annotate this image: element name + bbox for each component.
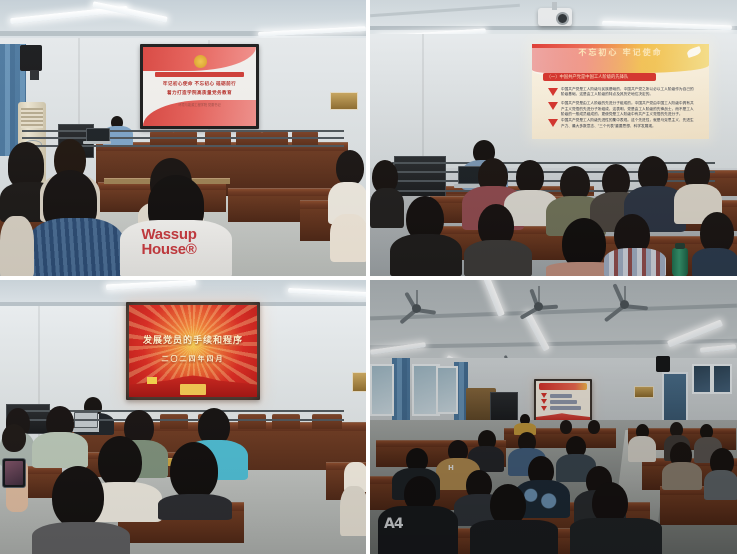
bullet-text: 中国共产党是由工人阶级的先进分子组成的。中国共产党由中国工人阶级中具有共产主义觉… [561, 101, 697, 116]
slide-title: 发展党员的手续和程序 [129, 333, 257, 346]
audience-body [340, 486, 366, 536]
slide-bullet: 中国共产党是工人阶级与民族基础的，中国共产党之所以必以工人阶级作为自己的阶级基础… [548, 87, 697, 99]
jacket-graphic: A4 [384, 516, 403, 532]
classroom-door[interactable] [662, 372, 688, 424]
projector-lens [556, 12, 569, 25]
photo-top-left[interactable]: 牢记初心使命 不忘初心 砥砺前行 着力打造学院高质量党务教育 环境与能源工程学院… [0, 0, 366, 276]
audience-head [98, 436, 142, 488]
projector-mount [552, 2, 557, 10]
bullet-marker-icon [541, 406, 547, 411]
phone-screen [5, 461, 23, 485]
audience-head [330, 214, 366, 262]
audience-head [560, 420, 572, 434]
bottle-cap [675, 243, 685, 249]
rack-slot [22, 130, 344, 132]
slide-title-line-2: 着力打造学院高质量党务教育 [143, 90, 256, 96]
audience-body-striped [28, 218, 124, 276]
presenter-laptop [86, 128, 108, 144]
jacket-graphic: H [448, 464, 454, 472]
chair-back [238, 414, 266, 429]
audience-jacket [570, 518, 662, 554]
audience-jacket [470, 520, 558, 554]
bullet-marker-icon [548, 88, 558, 96]
rack-slot [392, 162, 715, 164]
slide-bottom-right [536, 381, 590, 421]
wall-plaque [352, 372, 366, 392]
audience-head [2, 424, 26, 452]
ceiling-fan [516, 298, 560, 314]
bullet-text: 中国共产党是工人阶级与民族基础的，中国共产党之所以必以工人阶级作为自己的阶级基础… [561, 87, 697, 98]
smartphone[interactable] [2, 458, 26, 488]
bullet-marker-icon [541, 393, 547, 398]
classroom-window [692, 364, 712, 394]
projection-screen [536, 381, 590, 421]
audience-body [464, 240, 532, 276]
audience-body [0, 216, 34, 276]
slide-title-line-1: 牢记初心使命 不忘初心 砥砺前行 [143, 81, 256, 87]
presenter-laptop [74, 412, 96, 432]
slide-top-right: 不忘初心 牢记使命 （一）中国共产党是中国工人阶级的先锋队 中国共产党是工人阶级… [532, 44, 709, 139]
chair-back [312, 414, 342, 429]
slide-date: 二〇二四年四月 [129, 354, 257, 364]
bullet-marker-icon [548, 119, 558, 127]
shirt-graphic-text: Wassup House® [126, 227, 212, 258]
slide-header-strip [155, 72, 243, 77]
party-emblem [194, 55, 207, 68]
speaker-bracket [30, 70, 39, 80]
audience-head [336, 150, 364, 186]
water-bottle [672, 248, 688, 276]
bullet-text-placeholder [550, 394, 572, 398]
slide-bullet [541, 393, 572, 398]
audience-backpack [604, 248, 666, 276]
photo-bottom-right[interactable]: H A4 [370, 280, 737, 554]
classroom-window [436, 366, 458, 414]
audience-body [390, 234, 462, 276]
wall-seam [422, 34, 424, 164]
bullet-text: 中国共产党是工人阶级先进性的集中表现。这个先进性，就是马克思主义、先进生产力、最… [561, 118, 697, 129]
photo-collage: 牢记初心使命 不忘初心 砥砺前行 着力打造学院高质量党务教育 环境与能源工程学院… [0, 0, 737, 554]
projection-screen: 不忘初心 牢记使命 （一）中国共产党是中国工人阶级的先锋队 中国共产党是工人阶级… [532, 44, 709, 139]
classroom-window [712, 364, 732, 394]
chair-back [272, 414, 300, 429]
bullet-marker-icon [541, 399, 547, 404]
classroom-window [370, 364, 394, 416]
audience-body [628, 436, 656, 462]
slide-footer: 环境与能源工程学院 党委书记 [143, 102, 256, 107]
audience-body [704, 470, 737, 500]
slide-bullet [541, 399, 577, 404]
audience-head [52, 466, 104, 528]
flag-icon [147, 377, 157, 384]
slide-bullet [541, 406, 581, 411]
ac-vent [21, 108, 43, 128]
projection-screen: 牢记初心使命 不忘初心 砥砺前行 着力打造学院高质量党务教育 环境与能源工程学院… [143, 47, 256, 126]
fan-hub [620, 300, 629, 309]
photo-top-right[interactable]: 不忘初心 牢记使命 （一）中国共产党是中国工人阶级的先锋队 中国共产党是工人阶级… [370, 0, 737, 276]
photo-bottom-left[interactable]: 发展党员的手续和程序 二〇二四年四月 [0, 280, 366, 554]
audience-head-ponytail [170, 442, 218, 500]
ceiling-fan [394, 300, 438, 316]
audience-body [32, 432, 88, 468]
audience-head [588, 420, 600, 434]
slide-title-bar [539, 383, 587, 389]
audience-body [692, 248, 737, 276]
bullet-text-placeholder [550, 406, 581, 410]
ceiling-fan [598, 296, 650, 312]
audience-body [370, 188, 404, 228]
laptop-lid [86, 128, 110, 142]
slide-bullet: 中国共产党是由工人阶级的先进分子组成的。中国共产党由中国工人阶级中具有共产主义觉… [548, 101, 697, 116]
slide-bullet: 中国共产党是工人阶级先进性的集中表现。这个先进性，就是马克思主义、先进生产力、最… [548, 118, 697, 135]
ceiling-projector [538, 8, 572, 26]
audience-body [158, 494, 232, 520]
chair-back [160, 414, 188, 429]
projection-screen: 发展党员的手续和程序 二〇二四年四月 [129, 305, 257, 397]
bullet-text-placeholder [550, 400, 577, 404]
wall-plaque [330, 92, 358, 110]
wall-speaker [656, 356, 670, 372]
laptop-base [83, 141, 110, 144]
audience-body [662, 462, 702, 490]
wall-speaker [20, 45, 42, 71]
fan-hub [534, 302, 543, 311]
wall-plaque [634, 386, 654, 398]
bullet-marker-icon [548, 102, 558, 110]
slide-section-bar: （一）中国共产党是中国工人阶级的先锋队 [543, 73, 657, 81]
slide-top-left: 牢记初心使命 不忘初心 砥砺前行 着力打造学院高质量党务教育 环境与能源工程学院… [143, 47, 256, 126]
gate-body [180, 384, 206, 395]
audience-head [516, 160, 544, 194]
audience-body [32, 522, 130, 554]
laptop-base [71, 428, 98, 432]
slide-bottom-left: 发展党员的手续和程序 二〇二四年四月 [129, 305, 257, 397]
slide-title: 不忘初心 牢记使命 [532, 47, 709, 58]
fan-hub [412, 304, 421, 313]
